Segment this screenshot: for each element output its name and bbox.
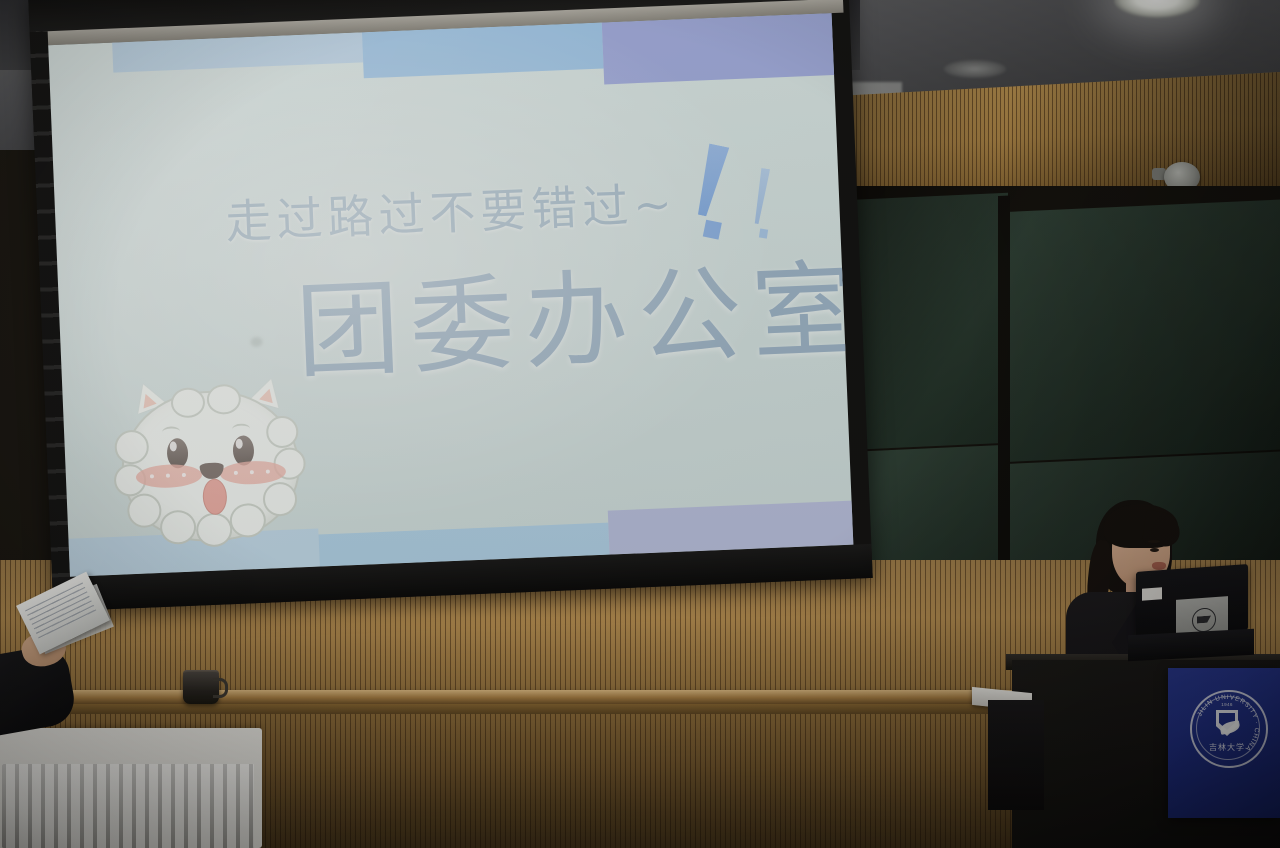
cat-fluff-bump <box>262 481 297 516</box>
lecture-hall-photo: 走过路过不要错过~ 团委办公室 <box>0 0 1280 848</box>
presenter-mouth <box>1152 562 1166 570</box>
presenter-brow <box>1148 540 1160 543</box>
cat-mascot-icon <box>110 371 307 547</box>
university-seal-year: 1946 <box>1216 702 1238 707</box>
university-seal-chinese-name: 吉林大学 <box>1202 742 1252 753</box>
cat-brow-right <box>232 423 250 435</box>
blackboard-panel <box>848 193 1008 450</box>
slide-accent-block-periwinkle <box>602 13 844 84</box>
slide-title: 团委办公室 <box>293 224 854 398</box>
presenter-eye <box>1150 548 1159 552</box>
projection-screen: 走过路过不要错过~ 团委办公室 <box>28 0 873 611</box>
presenter-hair-fringe <box>1142 510 1182 549</box>
blackboard-panel <box>1006 200 1280 462</box>
slide-smudge <box>250 337 262 347</box>
cat-fluff-bump <box>229 503 266 538</box>
cat-fluff-bump <box>196 512 233 547</box>
mug <box>183 672 219 704</box>
laptop-sticker <box>1142 587 1162 600</box>
exclamation-small-dot-icon <box>759 228 768 238</box>
projected-slide: 走过路过不要错过~ 团委办公室 <box>48 13 853 577</box>
exclamation-large-icon <box>689 142 729 218</box>
ceiling-light-off <box>944 60 1006 78</box>
desk-side-block <box>988 700 1044 810</box>
exclamation-small-icon <box>751 168 770 225</box>
radiator-grille <box>2 764 254 848</box>
cat-brow-left <box>162 426 180 438</box>
radiator <box>0 728 262 848</box>
exclamation-large-dot-icon <box>703 220 722 240</box>
slide-accent-block-medium-blue <box>362 23 604 79</box>
